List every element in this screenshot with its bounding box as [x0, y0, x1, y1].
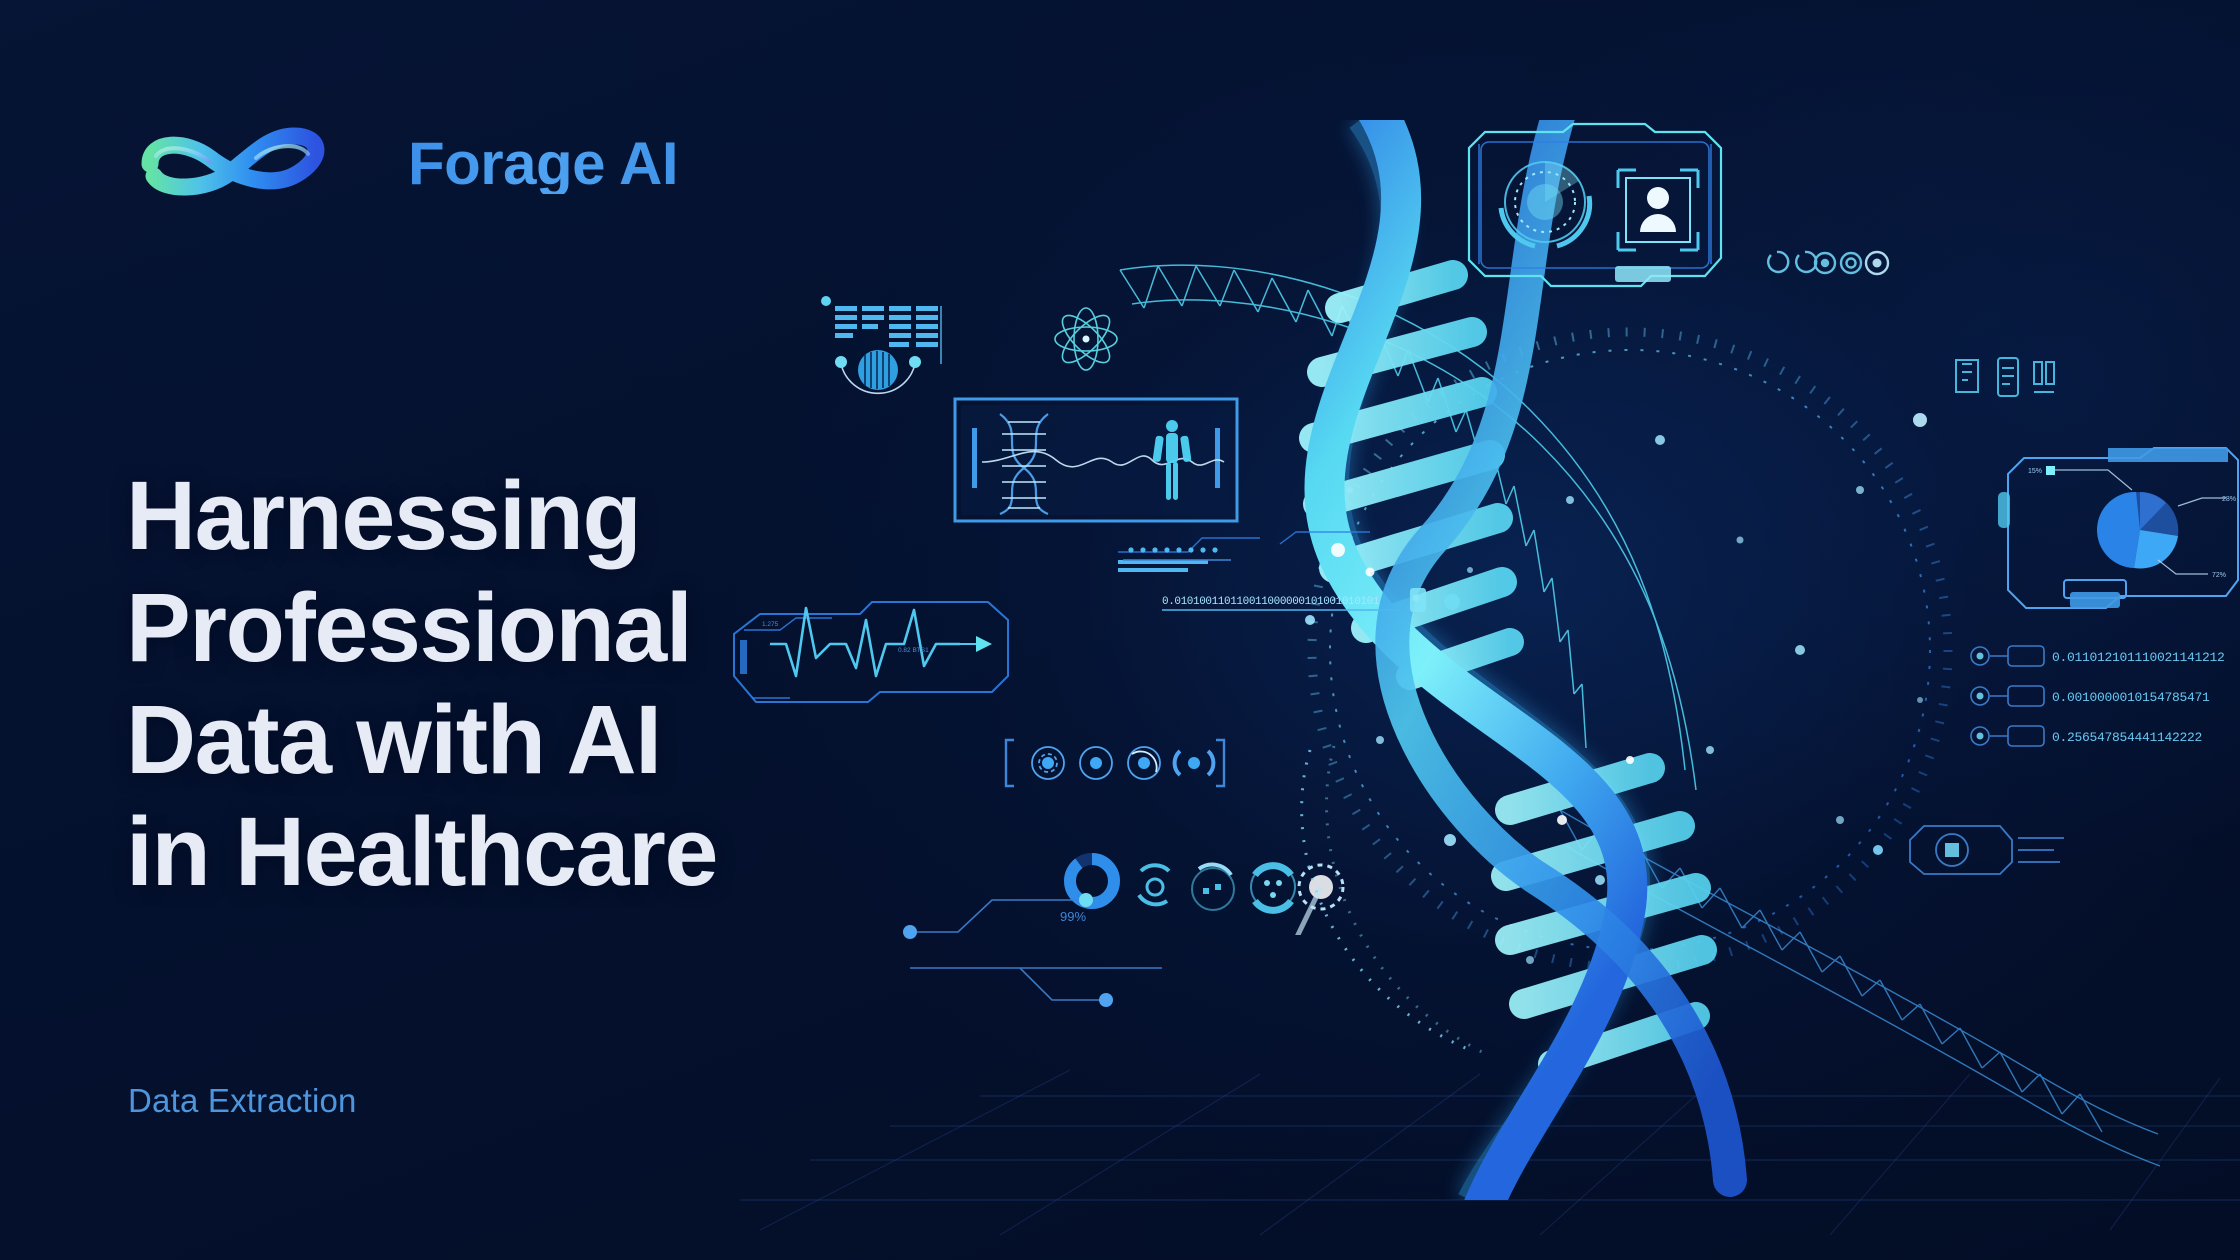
radar-dial: [1501, 162, 1590, 246]
comet-trail-arc: [1290, 740, 1590, 1070]
gauge-value: 99%: [1060, 909, 1086, 924]
svg-text:72%: 72%: [2212, 572, 2226, 579]
bracket-right: [1216, 740, 1224, 786]
wireframe-lattice: [1110, 230, 1730, 790]
glyph-icon-row: [1950, 350, 2070, 406]
helix-strand-a: [1324, 120, 1627, 1200]
waveform-line: [982, 452, 1224, 467]
category-label[interactable]: Data Extraction: [128, 1082, 357, 1120]
brand-logo[interactable]: Forage AI: [124, 118, 678, 210]
dotted-strip-widget: [1115, 540, 1275, 576]
bracket-left: [1006, 740, 1014, 786]
svg-text:28%: 28%: [2222, 496, 2236, 503]
person-id-scan-frame: [1618, 170, 1698, 250]
page-title: Harnessing Professional Data with AI in …: [126, 460, 1006, 908]
perspective-grid-floor: [740, 1030, 2240, 1260]
data-bars-widget: [815, 292, 965, 410]
atom-icon: [1045, 298, 1127, 380]
headline-line-2: Professional: [126, 572, 1006, 684]
donut-gauge: [1070, 859, 1114, 903]
readout-value-1: 0.011012101110021141212: [2052, 650, 2225, 665]
striped-circle: [858, 350, 898, 390]
headline-line-3: Data with AI: [126, 684, 1006, 796]
pie-chart-panel: 15% 28% 72%: [1990, 440, 2240, 630]
bracketed-indicator-row: [1000, 730, 1230, 796]
binary-readout-value: 0.010100110110011000000101001010101: [1162, 596, 1380, 608]
small-right-widget: [1900, 810, 2070, 890]
circle-icon-row: [1755, 245, 1895, 287]
binary-readout-strip: 0.010100110110011000000101001010101: [1110, 530, 1470, 640]
headline-line-1: Harnessing: [126, 460, 1006, 572]
hero-banner: 15% 28% 72% 0.011012101110021141212 0.00…: [0, 0, 2240, 1260]
completion-gauge: 99%: [1030, 845, 1150, 955]
readout-value-2: 0.0010000010154785471: [2052, 690, 2210, 705]
ring-cluster: [1125, 845, 1345, 935]
comet-burst: [1295, 865, 1343, 935]
wireframe-lattice-lower: [1560, 770, 2160, 1170]
helix-strand-b: [1392, 120, 1730, 1180]
human-body-silhouette: [1152, 420, 1191, 500]
particle-dots: [1240, 320, 1980, 1000]
brand-name: Forage AI: [408, 134, 678, 194]
person-icon: [1640, 187, 1676, 232]
dna-helix-icon: [1000, 414, 1048, 514]
numeric-readouts: 0.011012101110021141212 0.00100000101547…: [1968, 640, 2240, 760]
svg-text:15%: 15%: [2028, 468, 2042, 475]
biometric-scanner-panel: [1455, 118, 1735, 298]
headline-line-4: in Healthcare: [126, 796, 1006, 908]
dna-double-helix: [1210, 120, 1950, 1200]
tick-ring: [1270, 290, 1990, 1010]
pie-chart: [2097, 492, 2178, 569]
readout-value-3: 0.256547854441142222: [2052, 730, 2202, 745]
circuit-connectors: [900, 890, 1180, 1020]
infinity-ribbon-logo: [124, 118, 386, 210]
